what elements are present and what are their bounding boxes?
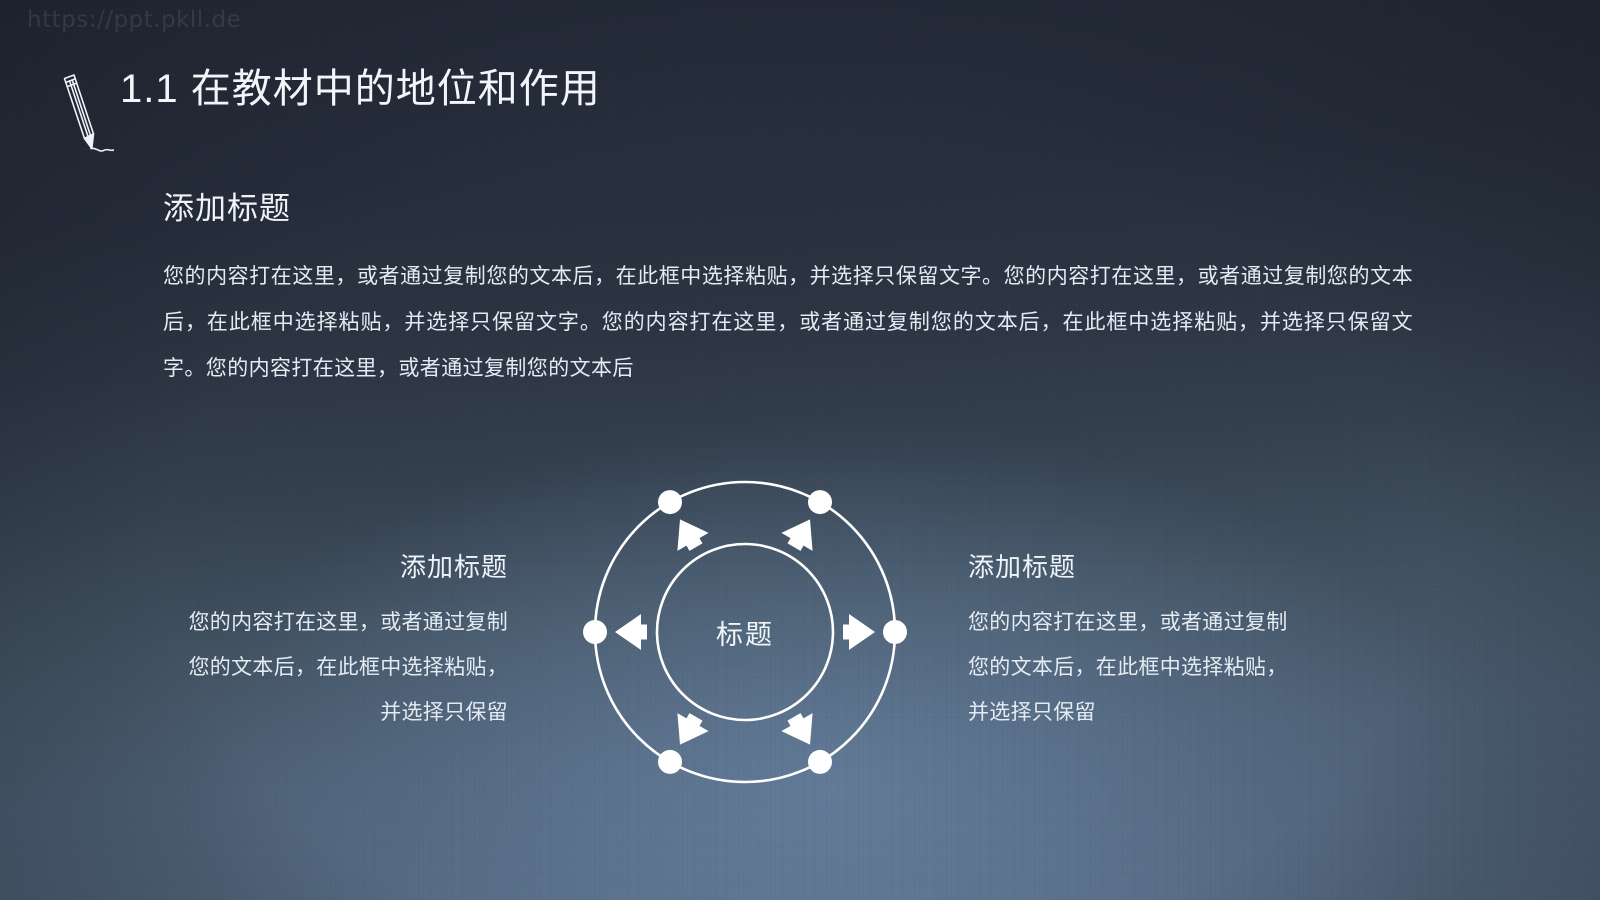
callout-right: 添加标题 您的内容打在这里，或者通过复制您的文本后，在此框中选择粘贴，并选择只保… <box>968 553 1298 735</box>
diagram-arrow <box>843 614 875 650</box>
slide-canvas: https://ppt.pkll.de <box>0 0 1600 900</box>
diagram-arrow <box>615 614 647 650</box>
diagram-node[interactable] <box>808 490 832 514</box>
watermark-url: https://ppt.pkll.de <box>27 7 241 33</box>
section-heading: 添加标题 <box>163 192 1413 226</box>
page-title: 1.1 在教材中的地位和作用 <box>120 69 601 131</box>
callout-left: 添加标题 您的内容打在这里，或者通过复制您的文本后，在此框中选择粘贴，并选择只保… <box>178 553 508 735</box>
diagram-inner-ring <box>657 544 833 720</box>
callout-left-title: 添加标题 <box>178 553 508 582</box>
diagram-node[interactable] <box>583 620 607 644</box>
diagram-arrow <box>781 519 812 551</box>
radial-diagram: 标题 <box>560 447 930 817</box>
diagram-node[interactable] <box>883 620 907 644</box>
section-paragraph: 您的内容打在这里，或者通过复制您的文本后，在此框中选择粘贴，并选择只保留文字。您… <box>163 254 1413 392</box>
diagram-node[interactable] <box>658 750 682 774</box>
diagram-arrow <box>677 519 708 551</box>
diagram-arrow <box>677 713 708 745</box>
diagram-arrow <box>781 713 812 745</box>
diagram-node[interactable] <box>808 750 832 774</box>
slide-header: 1.1 在教材中的地位和作用 <box>44 42 601 158</box>
callout-right-title: 添加标题 <box>968 553 1298 582</box>
pencil-icon <box>44 68 114 158</box>
diagram-arrows <box>615 519 875 744</box>
diagram-node[interactable] <box>658 490 682 514</box>
callout-right-text: 您的内容打在这里，或者通过复制您的文本后，在此框中选择粘贴，并选择只保留 <box>968 600 1298 735</box>
callout-left-text: 您的内容打在这里，或者通过复制您的文本后，在此框中选择粘贴，并选择只保留 <box>178 600 508 735</box>
intro-text-block: 添加标题 您的内容打在这里，或者通过复制您的文本后，在此框中选择粘贴，并选择只保… <box>163 192 1413 392</box>
